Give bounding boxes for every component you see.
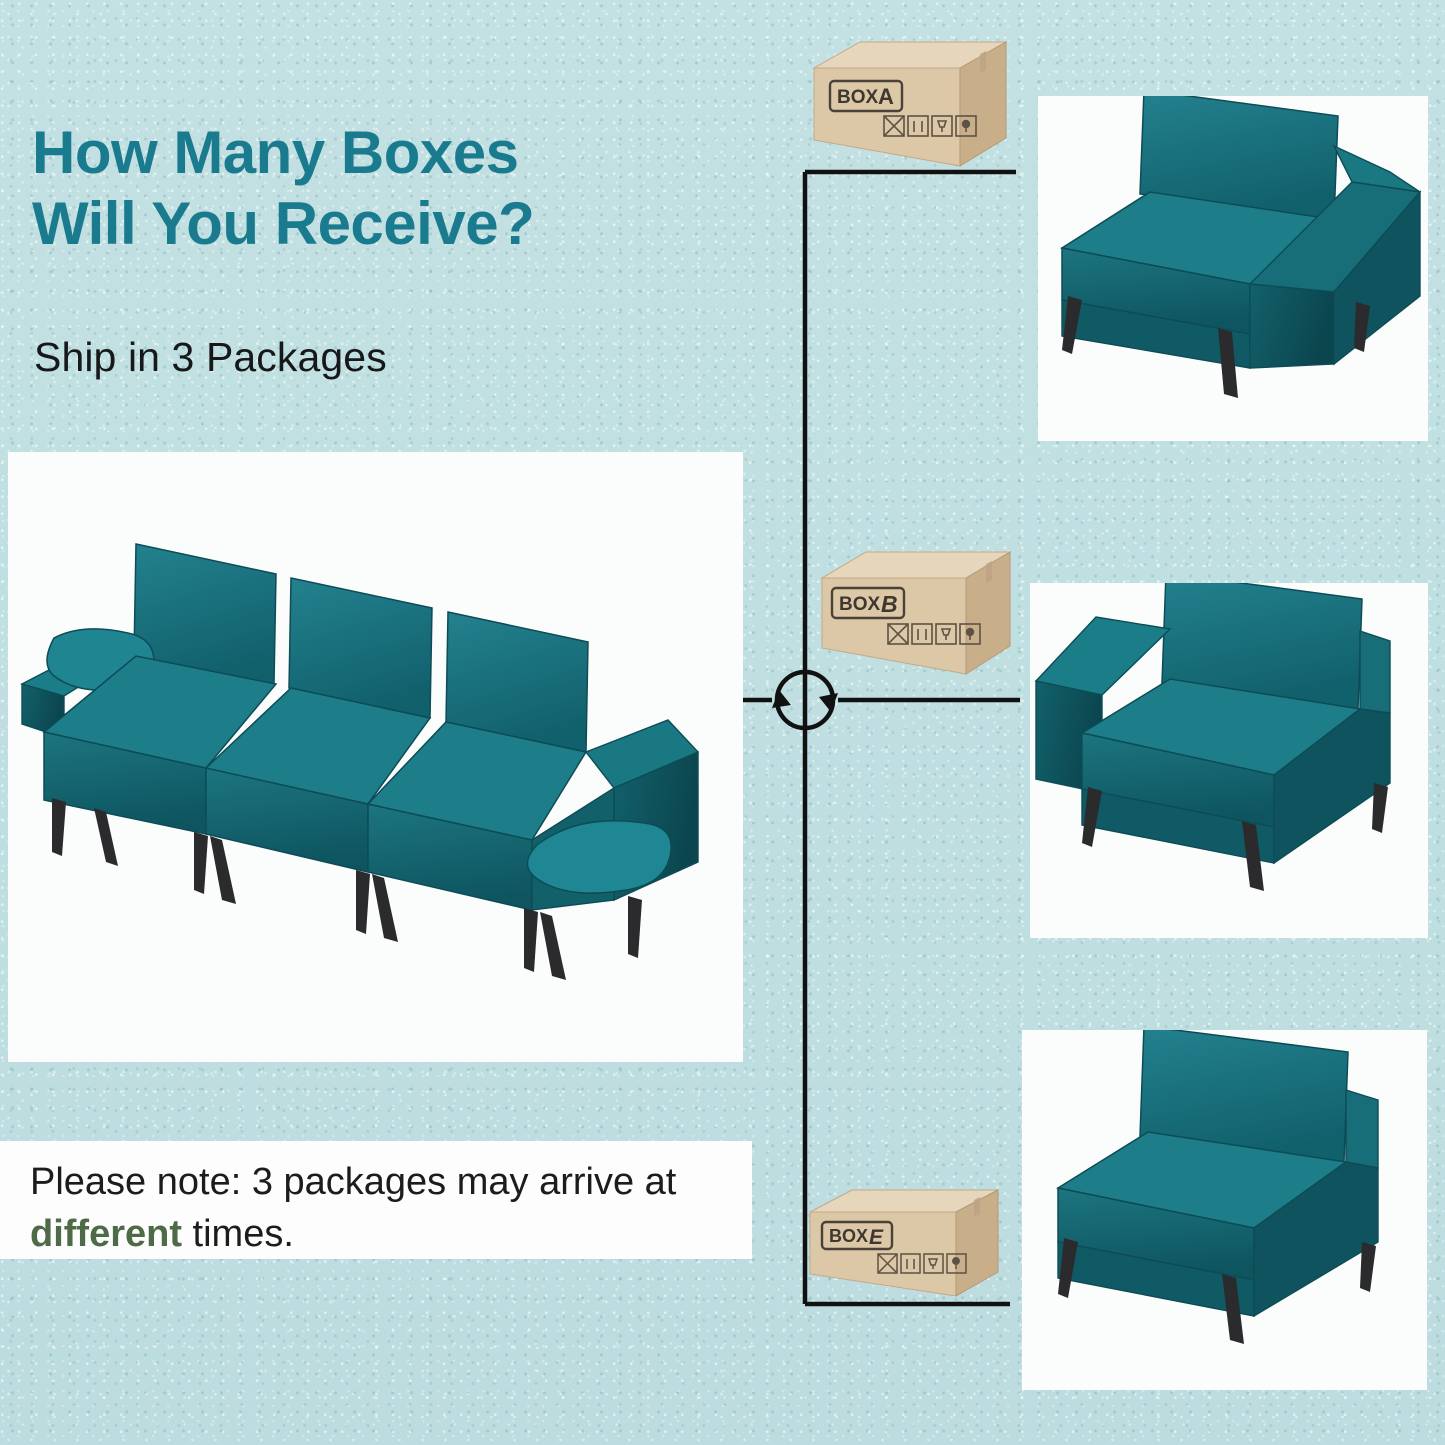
box-b-label-letter: B [881,591,898,617]
page-title: How Many Boxes Will You Receive? [32,118,732,260]
box-e-label-prefix: BOX [829,1226,868,1246]
note-suffix: times. [182,1213,294,1255]
note-emphasis: different [30,1213,182,1255]
shipping-note-panel: Please note: 3 packages may arrive at di… [0,1141,752,1259]
product-photo-module-armless [1022,1030,1427,1390]
page-title-line-1: How Many Boxes [32,118,732,189]
box-e-illustration: BOX E [806,1178,1002,1300]
carton-box-a: BOX A [810,28,1010,170]
box-e-label-letter: E [869,1226,884,1249]
box-a-label-prefix: BOX [837,87,879,108]
page-subtitle: Ship in 3 Packages [34,334,387,381]
module-left-arm-illustration [1030,583,1428,938]
product-photo-sofa [8,452,743,1062]
module-armless-illustration [1022,1030,1427,1390]
hub-arrow-right [819,693,838,712]
page-title-line-2: Will You Receive? [32,189,732,260]
carton-box-e: BOX E [806,1178,1002,1300]
hub-arrow-left [772,690,791,708]
product-photo-module-right-arm [1038,96,1428,441]
note-prefix: Please note: 3 packages may arrive at [30,1161,676,1203]
sofa-illustration [8,452,743,1062]
product-photo-module-left-arm [1030,583,1428,938]
carton-box-b: BOX B [818,538,1014,678]
box-a-illustration: BOX A [810,28,1010,170]
infographic-canvas: How Many Boxes Will You Receive? Ship in… [0,0,1445,1445]
box-b-illustration: BOX B [818,538,1014,678]
box-a-label-letter: A [878,84,894,109]
module-right-arm-illustration [1038,96,1428,441]
box-b-label-prefix: BOX [839,594,881,615]
shipping-note-text: Please note: 3 packages may arrive at di… [30,1157,730,1260]
connector-hub-icon [772,672,838,728]
